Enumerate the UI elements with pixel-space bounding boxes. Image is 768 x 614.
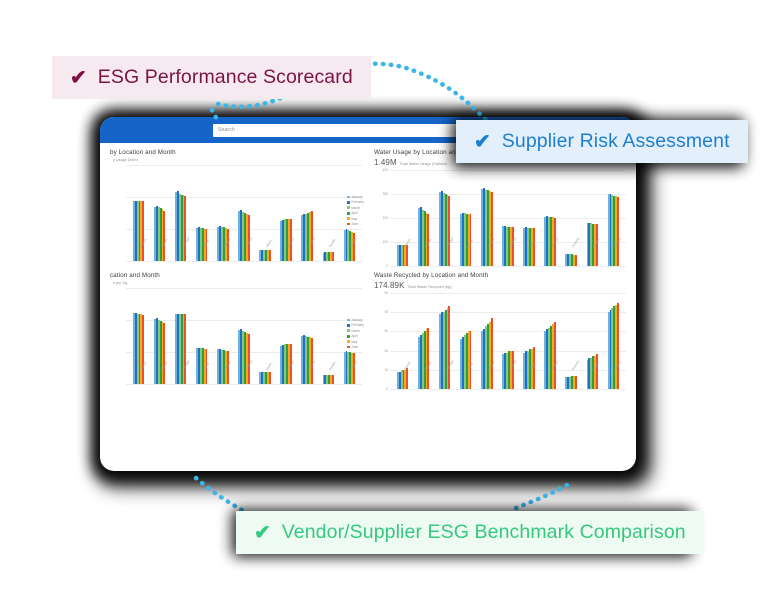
callout-label: ESG Performance Scorecard bbox=[98, 66, 353, 89]
chart-legend: JanuaryFebruaryMarchAprilMayJune bbox=[347, 195, 364, 226]
chart-title: Waste Recycled by Location and Month bbox=[374, 272, 626, 279]
y-axis-tick: 30 bbox=[384, 329, 388, 333]
y-axis-tick: 300 bbox=[383, 192, 388, 196]
x-axis-label: Seattle bbox=[328, 246, 331, 248]
x-axis-label: Dallas bbox=[202, 246, 205, 248]
x-axis-label: Miami bbox=[265, 369, 268, 371]
y-axis: 4003002001000 bbox=[374, 170, 390, 266]
x-axis-label: Denver bbox=[223, 369, 226, 371]
y-axis-tick: 20 bbox=[384, 349, 388, 353]
x-axis-label: Boston bbox=[160, 246, 163, 248]
x-axis-label: Dallas bbox=[466, 246, 469, 248]
legend-label: April bbox=[351, 334, 357, 338]
x-axis-label: Denver bbox=[487, 246, 490, 248]
metric-value: 1.49M bbox=[374, 158, 397, 167]
legend-swatch bbox=[347, 340, 350, 343]
legend-label: February bbox=[351, 200, 364, 204]
callout-esg-performance-scorecard[interactable]: ✔ ESG Performance Scorecard bbox=[52, 56, 371, 99]
chart-title: by Location and Month bbox=[110, 149, 362, 156]
metric-value: 174.89K bbox=[374, 281, 405, 290]
x-axis-labels: AtlantaBostonChicagoDallasDenverHoustonM… bbox=[126, 245, 362, 267]
legend-label: April bbox=[351, 211, 357, 215]
x-axis-label: Toronto bbox=[613, 246, 616, 248]
metric-subtitle: s per Kg bbox=[113, 281, 127, 285]
legend-swatch bbox=[347, 223, 350, 226]
x-axis-label: Newark bbox=[286, 369, 289, 371]
legend-label: March bbox=[351, 206, 360, 210]
x-axis-label: Toronto bbox=[349, 369, 352, 371]
legend-item[interactable]: June bbox=[347, 222, 364, 226]
y-axis bbox=[110, 288, 126, 384]
legend-item[interactable]: January bbox=[347, 318, 364, 322]
legend-item[interactable]: May bbox=[347, 340, 364, 344]
chart-card-waste-recycled[interactable]: Waste Recycled by Location and Month 174… bbox=[374, 272, 626, 389]
x-axis-label: Newark bbox=[286, 246, 289, 248]
x-axis-label: Houston bbox=[244, 246, 247, 248]
x-axis-label: Miami bbox=[265, 246, 268, 248]
check-icon: ✔ bbox=[474, 132, 491, 152]
chart-card-energy-usage[interactable]: by Location and Month y Usage (kWh) Janu… bbox=[110, 149, 362, 266]
x-axis-label: Seattle bbox=[592, 369, 595, 371]
promo-composition: Search by Location and Month y Usage (kW… bbox=[0, 0, 768, 614]
legend-item[interactable]: March bbox=[347, 206, 364, 210]
y-axis-tick: 200 bbox=[383, 216, 388, 220]
x-axis-label: Denver bbox=[487, 369, 490, 371]
y-axis-tick: 0 bbox=[386, 264, 388, 268]
x-axis-label: Miami bbox=[529, 246, 532, 248]
x-axis-labels: AtlantaBostonChicagoDallasDenverHoustonM… bbox=[126, 368, 362, 390]
metric-subtitle: y Usage (kWh) bbox=[113, 158, 138, 162]
legend-item[interactable]: February bbox=[347, 200, 364, 204]
y-axis-tick: 40 bbox=[384, 310, 388, 314]
y-axis: 50403020100 bbox=[374, 293, 390, 389]
x-axis-label: Chicago bbox=[445, 246, 448, 248]
legend-swatch bbox=[347, 217, 350, 220]
chart-card-emissions[interactable]: cation and Month s per Kg JanuaryFebruar… bbox=[110, 272, 362, 389]
x-axis-label: Phoenix bbox=[571, 246, 574, 248]
x-axis-label: Newark bbox=[550, 369, 553, 371]
x-axis-label: Houston bbox=[244, 369, 247, 371]
y-axis-tick: 100 bbox=[383, 240, 388, 244]
x-axis-label: Toronto bbox=[349, 246, 352, 248]
chart-title: cation and Month bbox=[110, 272, 362, 279]
y-axis-tick: 0 bbox=[386, 387, 388, 391]
x-axis-label: Chicago bbox=[181, 369, 184, 371]
chart-legend: JanuaryFebruaryMarchAprilMayJune bbox=[347, 318, 364, 349]
legend-item[interactable]: February bbox=[347, 323, 364, 327]
x-axis-label: Toronto bbox=[613, 369, 616, 371]
x-axis-label: Atlanta bbox=[403, 246, 406, 248]
legend-swatch bbox=[347, 335, 350, 338]
chart-metric: y Usage (kWh) bbox=[110, 158, 362, 162]
legend-item[interactable]: June bbox=[347, 345, 364, 349]
x-axis-labels: AtlantaBostonChicagoDallasDenverHoustonM… bbox=[390, 368, 626, 390]
dashboard-window: Search by Location and Month y Usage (kW… bbox=[100, 117, 636, 471]
legend-item[interactable]: April bbox=[347, 334, 364, 338]
x-axis-label: Atlanta bbox=[139, 246, 142, 248]
legend-item[interactable]: March bbox=[347, 329, 364, 333]
callout-supplier-risk-assessment[interactable]: ✔ Supplier Risk Assessment bbox=[456, 120, 748, 163]
legend-label: May bbox=[351, 217, 357, 221]
metric-subtitle: Total Water Usage (Gallons) bbox=[400, 162, 448, 166]
callout-vendor-supplier-esg-benchmark[interactable]: ✔ Vendor/Supplier ESG Benchmark Comparis… bbox=[236, 511, 704, 554]
dashboard-body: by Location and Month y Usage (kWh) Janu… bbox=[100, 143, 636, 397]
check-icon: ✔ bbox=[254, 523, 271, 543]
x-axis-labels: AtlantaBostonChicagoDallasDenverHoustonM… bbox=[390, 245, 626, 267]
legend-label: June bbox=[351, 222, 358, 226]
legend-swatch bbox=[347, 206, 350, 209]
x-axis-label: Dallas bbox=[202, 369, 205, 371]
legend-label: January bbox=[351, 318, 362, 322]
legend-swatch bbox=[347, 196, 350, 199]
x-axis-label: Atlanta bbox=[139, 369, 142, 371]
y-axis bbox=[110, 165, 126, 261]
x-axis-label: Houston bbox=[508, 246, 511, 248]
x-axis-label: Boston bbox=[160, 369, 163, 371]
search-placeholder: Search bbox=[218, 127, 235, 133]
legend-swatch bbox=[347, 324, 350, 327]
x-axis-label: Phoenix bbox=[307, 369, 310, 371]
x-axis-label: Miami bbox=[529, 369, 532, 371]
x-axis-label: Phoenix bbox=[307, 246, 310, 248]
metric-subtitle: Total Waste Recycled (kg) bbox=[408, 285, 452, 289]
x-axis-label: Houston bbox=[508, 369, 511, 371]
y-axis-tick: 400 bbox=[383, 168, 388, 172]
legend-item[interactable]: January bbox=[347, 195, 364, 199]
legend-label: May bbox=[351, 340, 357, 344]
x-axis-label: Boston bbox=[424, 369, 427, 371]
chart-metric: 174.89K Total Waste Recycled (kg) bbox=[374, 281, 626, 290]
x-axis-label: Atlanta bbox=[403, 369, 406, 371]
callout-label: Supplier Risk Assessment bbox=[502, 130, 730, 153]
legend-item[interactable]: May bbox=[347, 217, 364, 221]
x-axis-label: Seattle bbox=[592, 246, 595, 248]
check-icon: ✔ bbox=[70, 68, 87, 88]
x-axis-label: Chicago bbox=[445, 369, 448, 371]
legend-label: January bbox=[351, 195, 362, 199]
x-axis-label: Newark bbox=[550, 246, 553, 248]
legend-label: March bbox=[351, 329, 360, 333]
chart-grid: by Location and Month y Usage (kWh) Janu… bbox=[110, 149, 626, 389]
x-axis-label: Boston bbox=[424, 246, 427, 248]
legend-swatch bbox=[347, 201, 350, 204]
x-axis-label: Dallas bbox=[466, 369, 469, 371]
legend-swatch bbox=[347, 319, 350, 322]
x-axis-label: Seattle bbox=[328, 369, 331, 371]
x-axis-label: Phoenix bbox=[571, 369, 574, 371]
legend-swatch bbox=[347, 212, 350, 215]
y-axis-tick: 50 bbox=[384, 291, 388, 295]
legend-swatch bbox=[347, 346, 350, 349]
legend-label: February bbox=[351, 323, 364, 327]
chart-metric: s per Kg bbox=[110, 281, 362, 285]
callout-label: Vendor/Supplier ESG Benchmark Comparison bbox=[282, 521, 686, 544]
legend-label: June bbox=[351, 345, 358, 349]
legend-swatch bbox=[347, 329, 350, 332]
legend-item[interactable]: April bbox=[347, 211, 364, 215]
x-axis-label: Denver bbox=[223, 246, 226, 248]
x-axis-label: Chicago bbox=[181, 246, 184, 248]
y-axis-tick: 10 bbox=[384, 368, 388, 372]
